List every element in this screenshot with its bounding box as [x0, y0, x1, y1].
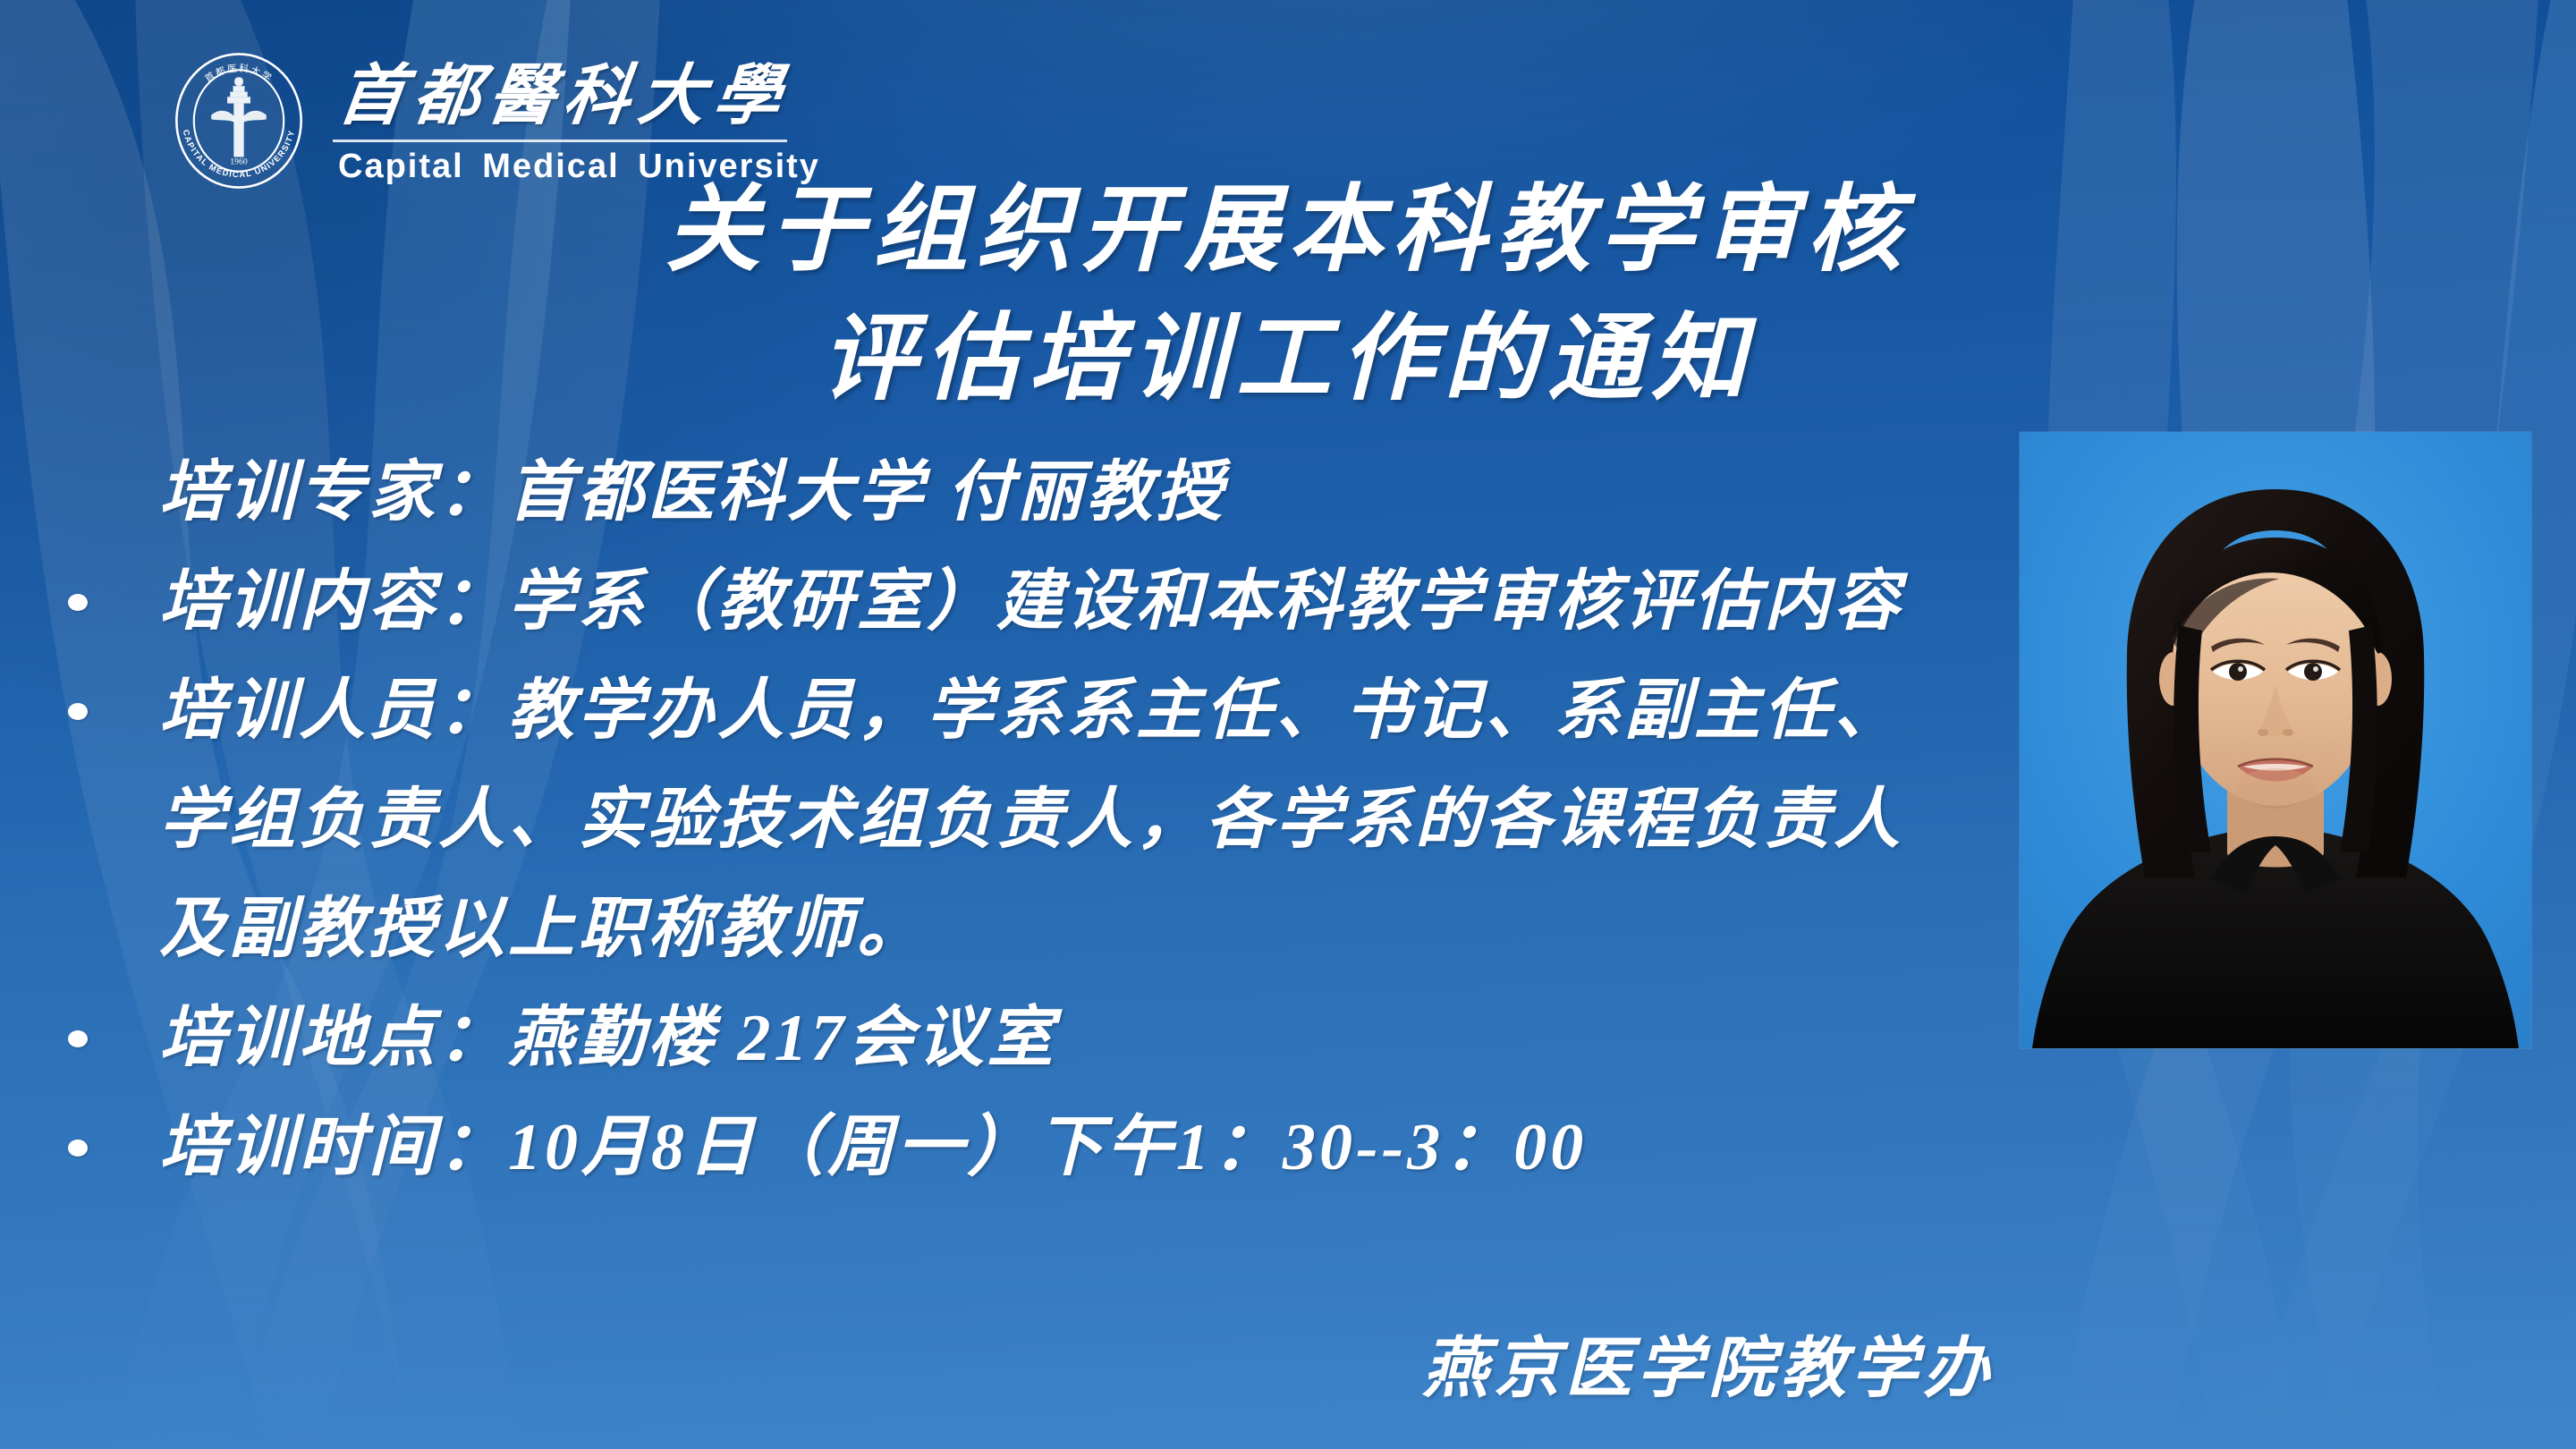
logo-divider	[333, 140, 787, 142]
bullet-slot	[54, 984, 159, 1093]
slide-title: 关于组织开展本科教学审核 评估培训工作的通知	[555, 166, 2021, 424]
bullet-slot	[54, 547, 159, 657]
bullet-slot	[54, 766, 159, 875]
body-line: 培训时间：10月8日（周一）下午1：30--3：00	[54, 1093, 2021, 1202]
bullet-slot	[54, 1093, 159, 1202]
notice-body: 培训专家：首都医科大学 付丽教授 培训内容：学系（教研室）建设和本科教学审核评估…	[54, 438, 2021, 1202]
slide-canvas: 首都医科大学 CAPITAL MEDICAL UNIVERSITY 1960 首…	[0, 0, 2576, 1449]
footer-signature: 燕京医学院教学办	[1422, 1315, 1995, 1411]
speaker-portrait-photo	[2020, 432, 2531, 1048]
bullet-dot-icon	[68, 703, 88, 720]
bullet-dot-icon	[68, 1140, 88, 1157]
body-line-text: 学组负责人、实验技术组负责人，各学系的各课程负责人	[159, 766, 2021, 875]
body-line-text: 培训人员：教学办人员，学系系主任、书记、系副主任、	[159, 657, 2021, 766]
bullet-dot-icon	[68, 594, 88, 611]
body-line-text: 培训专家：首都医科大学 付丽教授	[159, 438, 2021, 547]
body-line-text: 培训内容：学系（教研室）建设和本科教学审核评估内容	[159, 547, 2021, 657]
bullet-slot	[54, 438, 159, 547]
bullet-slot	[54, 875, 159, 984]
seal-year: 1960	[230, 157, 248, 167]
body-line-text: 培训地点：燕勤楼 217会议室	[159, 984, 2021, 1093]
body-line: 培训人员：教学办人员，学系系主任、书记、系副主任、	[54, 657, 2021, 766]
body-line: 培训地点：燕勤楼 217会议室	[54, 984, 2021, 1093]
bullet-slot	[54, 657, 159, 766]
logo-wordmark-cn: 首都醫科大學	[328, 60, 826, 138]
body-line: 及副教授以上职称教师。	[54, 875, 2021, 984]
title-line-2: 评估培训工作的通知	[555, 295, 2021, 424]
body-line-text: 及副教授以上职称教师。	[159, 875, 2021, 984]
title-line-1: 关于组织开展本科教学审核	[555, 166, 2021, 295]
body-line: 培训内容：学系（教研室）建设和本科教学审核评估内容	[54, 547, 2021, 657]
body-line-text: 培训时间：10月8日（周一）下午1：30--3：00	[159, 1093, 2021, 1202]
university-seal-icon: 首都医科大学 CAPITAL MEDICAL UNIVERSITY 1960	[166, 48, 311, 198]
body-line: 培训专家：首都医科大学 付丽教授	[54, 438, 2021, 547]
bullet-dot-icon	[68, 1030, 88, 1047]
body-line: 学组负责人、实验技术组负责人，各学系的各课程负责人	[54, 766, 2021, 875]
